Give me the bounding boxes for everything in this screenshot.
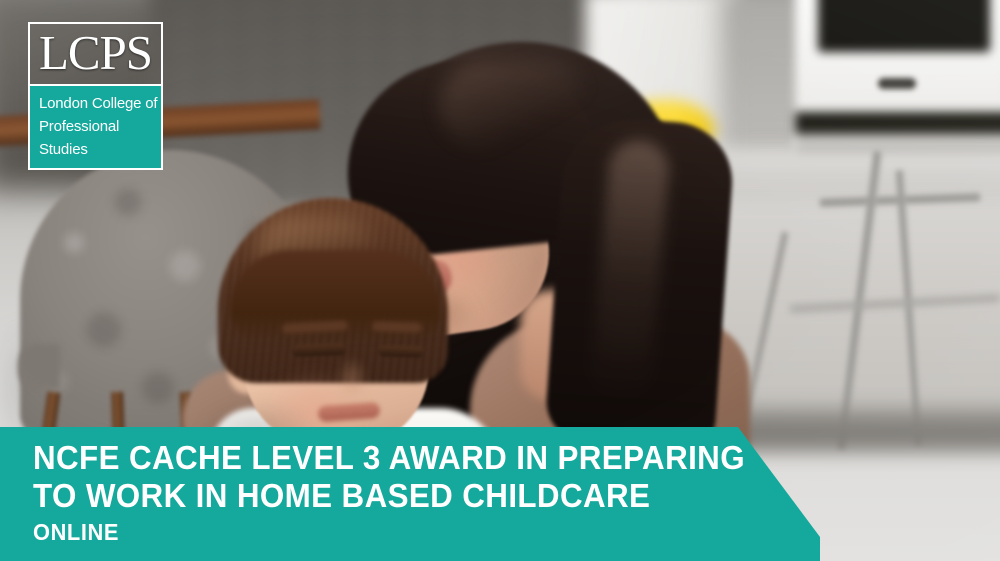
- course-title-line-2: TO WORK IN HOME BASED CHILDCARE: [33, 477, 698, 515]
- course-hero-banner: LCPS London College of Professional Stud…: [0, 0, 1000, 561]
- course-delivery-mode: ONLINE: [33, 519, 698, 545]
- logo-monogram-area: LCPS: [30, 24, 161, 84]
- course-title-line-1: NCFE CACHE LEVEL 3 AWARD IN PREPARING: [33, 439, 698, 477]
- logo-name-panel: London College of Professional Studies: [30, 84, 161, 168]
- logo-monogram: LCPS: [39, 28, 152, 77]
- logo-name-line-2: Professional: [39, 116, 161, 139]
- lcps-logo[interactable]: LCPS London College of Professional Stud…: [28, 22, 163, 170]
- logo-name-line-1: London College of: [39, 93, 161, 116]
- course-title-banner: NCFE CACHE LEVEL 3 AWARD IN PREPARING TO…: [0, 427, 830, 561]
- course-title-block: NCFE CACHE LEVEL 3 AWARD IN PREPARING TO…: [33, 439, 733, 545]
- logo-name-line-3: Studies: [39, 139, 161, 162]
